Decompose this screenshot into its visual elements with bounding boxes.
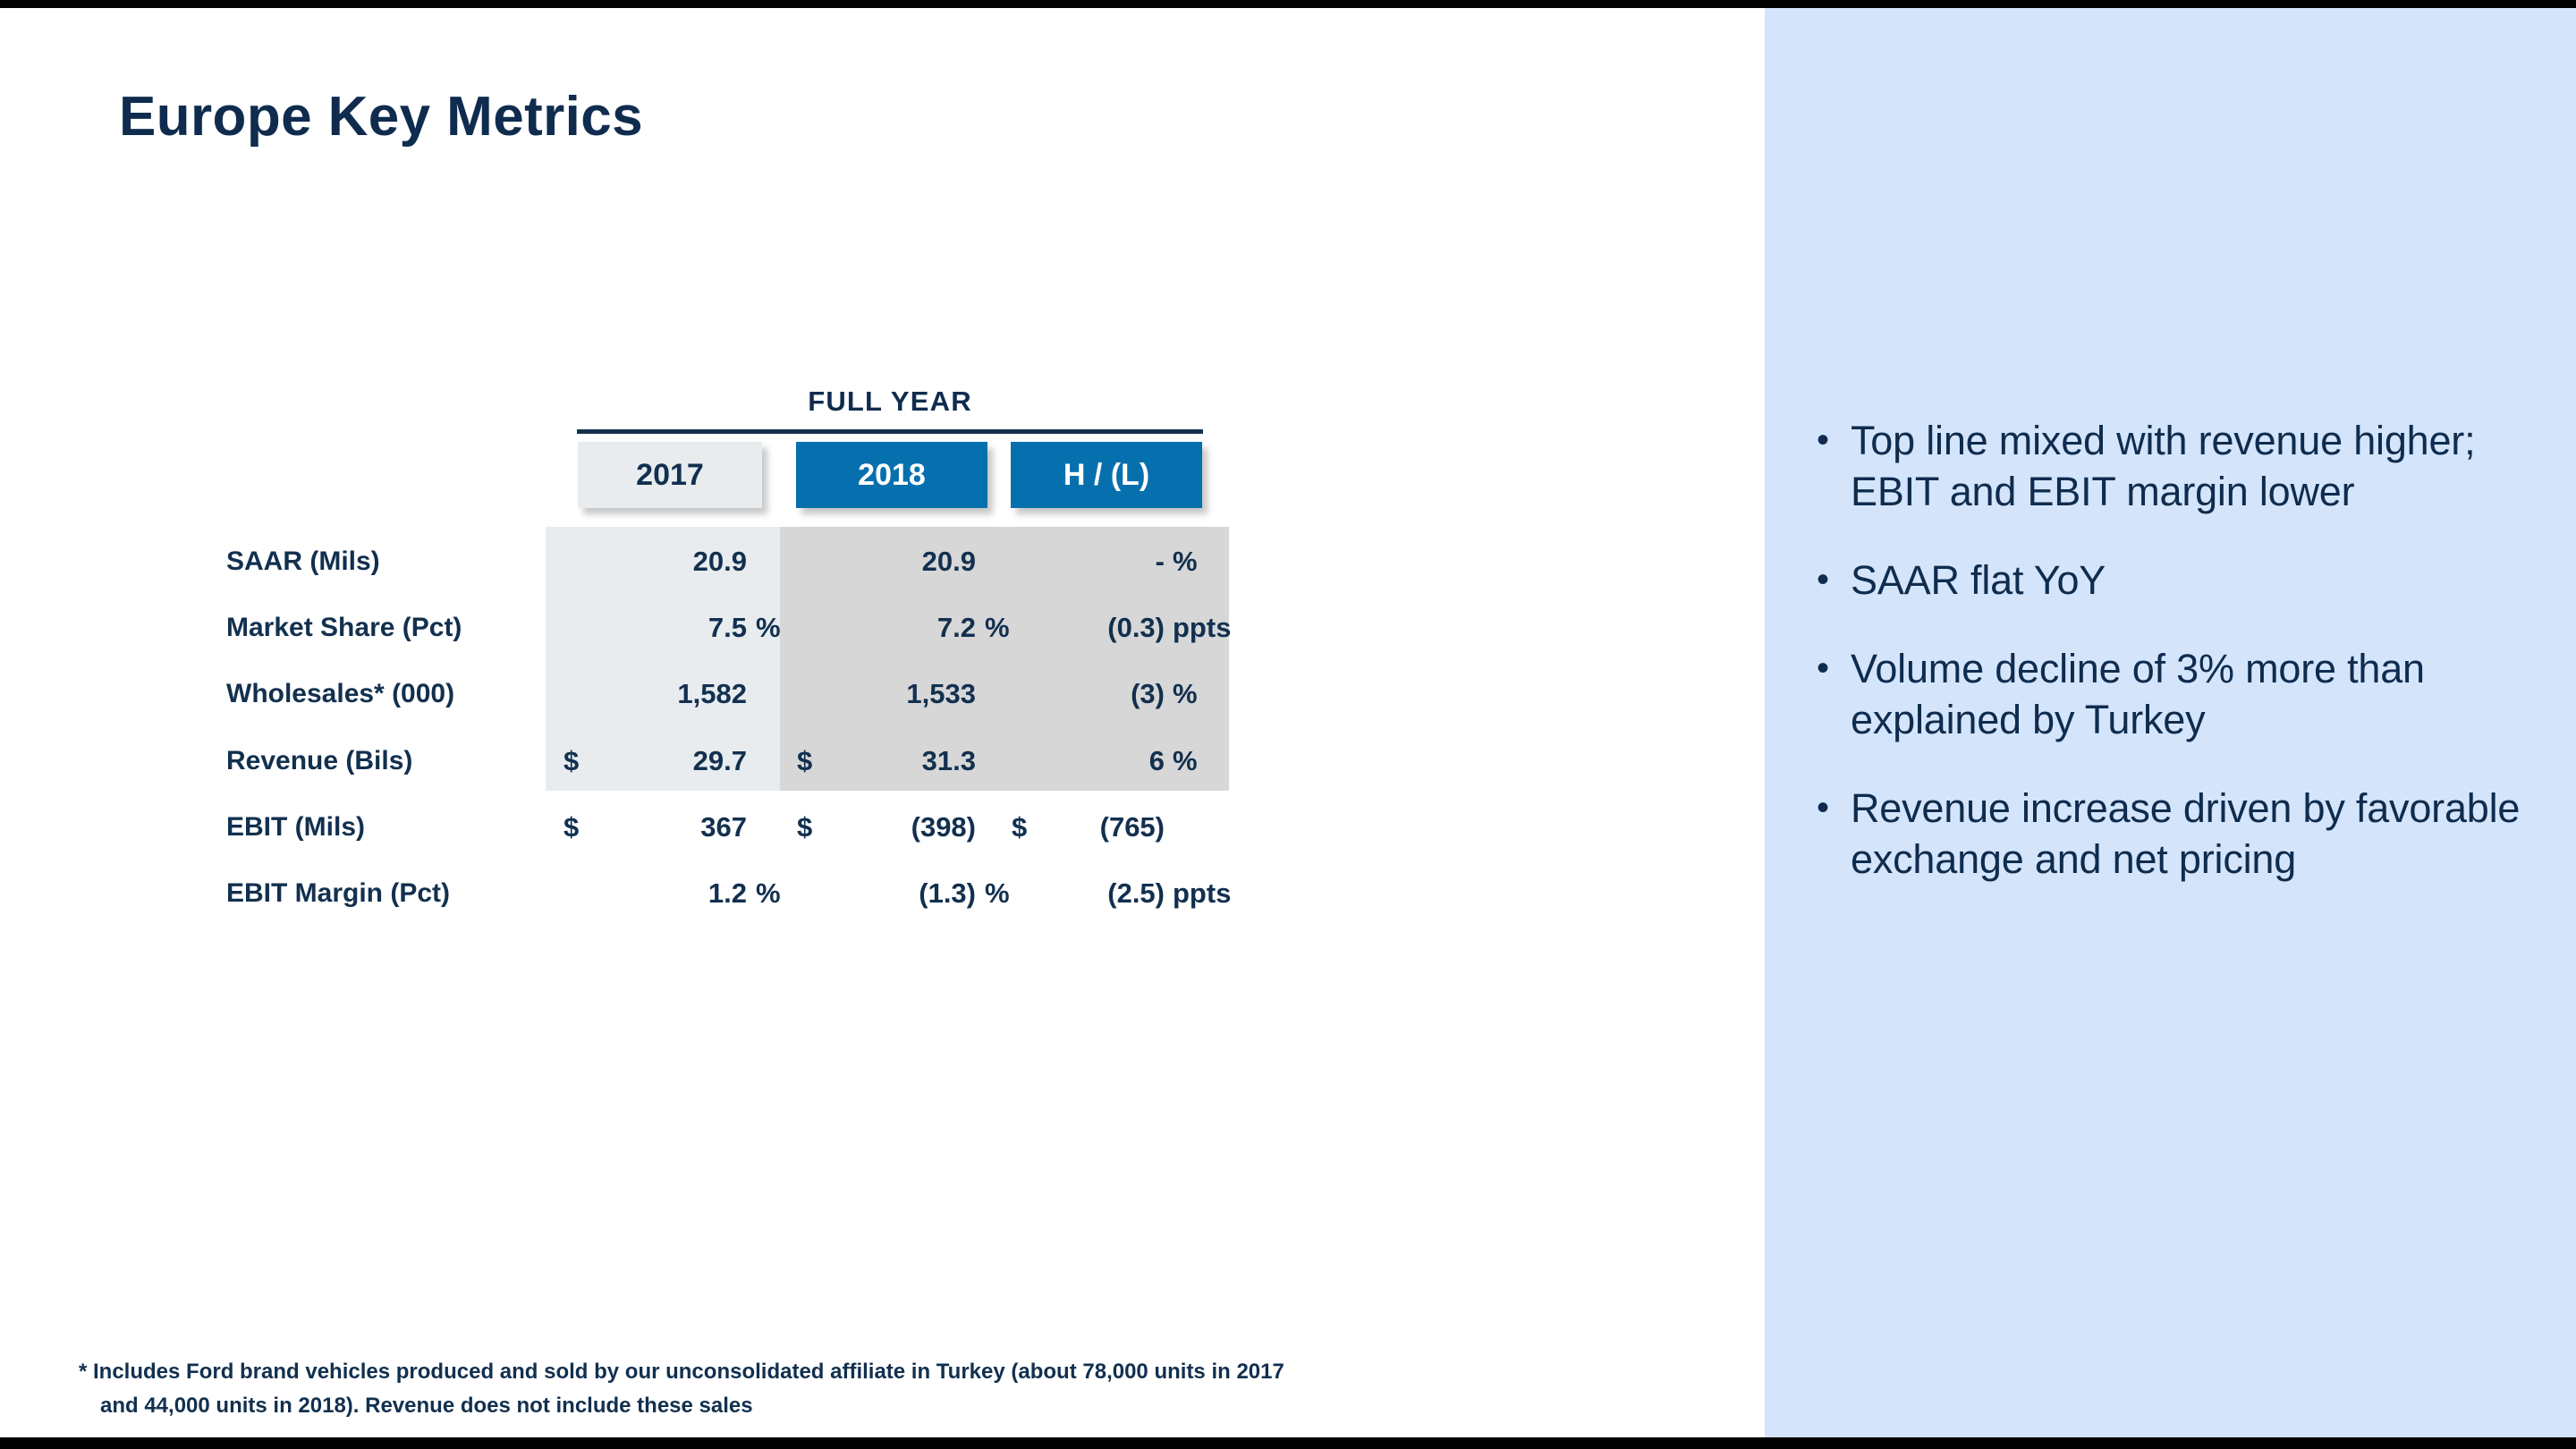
list-item: • SAAR flat YoY [1809,555,2525,606]
commentary-panel: • Top line mixed with revenue higher; EB… [1765,8,2576,1437]
commentary-text: SAAR flat YoY [1851,555,2525,606]
cell-unit-hl: ppts [1173,871,1253,915]
cell-value-2018: 31.3 [797,739,976,783]
cell-value-2018: (1.3) [797,871,976,915]
commentary-text: Volume decline of 3% more than explained… [1851,643,2525,745]
row-label: Wholesales* (000) [226,672,530,716]
cell-value-2018: 1,533 [797,672,976,716]
commentary-bullet-list: • Top line mixed with revenue higher; EB… [1809,415,2525,922]
table-row: EBIT Margin (Pct) 1.2 % (1.3) % (2.5) pp… [226,871,1237,915]
bullet-dot-icon: • [1809,643,1851,694]
cell-value-hl: (2.5) [1001,871,1165,915]
column-header-hl[interactable]: H / (L) [1011,442,1202,508]
cell-value-hl: (765) [1001,805,1165,849]
cell-value-2017: 7.5 [563,606,747,649]
table-row: Wholesales* (000) 1,582 1,533 (3) % [226,672,1237,716]
row-label: SAAR (Mils) [226,539,530,583]
page-title: Europe Key Metrics [119,85,643,148]
cell-value-2017: 29.7 [563,739,747,783]
cell-unit-hl: % [1173,672,1253,716]
cell-value-hl: 6 [1001,739,1165,783]
cell-unit-hl [1173,805,1253,849]
column-header-2018[interactable]: 2018 [796,442,987,508]
table-row: EBIT (Mils) $ 367 $ (398) $ (765) [226,805,1237,849]
cell-value-hl: (3) [1001,672,1165,716]
list-item: • Top line mixed with revenue higher; EB… [1809,415,2525,517]
period-rule [577,429,1203,434]
footnote-line-2: and 44,000 units in 2018). Revenue does … [79,1389,1599,1423]
bullet-dot-icon: • [1809,415,1851,466]
cell-unit-hl: % [1173,539,1253,583]
commentary-text: Revenue increase driven by favorable exc… [1851,783,2525,885]
cell-unit-hl: ppts [1173,606,1253,649]
period-label: FULL YEAR [577,386,1203,418]
footnote-line-1: * Includes Ford brand vehicles produced … [79,1360,1284,1384]
list-item: • Volume decline of 3% more than explain… [1809,643,2525,745]
list-item: • Revenue increase driven by favorable e… [1809,783,2525,885]
metrics-rows: SAAR (Mils) 20.9 20.9 - % Market Share (… [226,527,1237,937]
row-label: Market Share (Pct) [226,606,530,649]
cell-value-2018: (398) [797,805,976,849]
row-label: EBIT Margin (Pct) [226,871,530,915]
cell-value-hl: (0.3) [1001,606,1165,649]
cell-value-2017: 367 [563,805,747,849]
cell-value-hl: - [1001,539,1165,583]
cell-value-2017: 1.2 [563,871,747,915]
cell-unit-hl: % [1173,739,1253,783]
table-row: Revenue (Bils) $ 29.7 $ 31.3 6 % [226,739,1237,783]
cell-value-2017: 20.9 [563,539,747,583]
slide-canvas: • Top line mixed with revenue higher; EB… [0,8,2576,1437]
cell-value-2018: 7.2 [797,606,976,649]
footnote: * Includes Ford brand vehicles produced … [79,1355,1599,1423]
row-label: EBIT (Mils) [226,805,530,849]
row-label: Revenue (Bils) [226,739,530,783]
cell-value-2017: 1,582 [563,672,747,716]
column-header-2017[interactable]: 2017 [578,442,762,508]
table-row: Market Share (Pct) 7.5 % 7.2 % (0.3) ppt… [226,606,1237,649]
cell-value-2018: 20.9 [797,539,976,583]
table-row: SAAR (Mils) 20.9 20.9 - % [226,539,1237,583]
bullet-dot-icon: • [1809,555,1851,606]
commentary-text: Top line mixed with revenue higher; EBIT… [1851,415,2525,517]
column-header-row: 2017 2018 H / (L) [226,442,1237,512]
bullet-dot-icon: • [1809,783,1851,834]
